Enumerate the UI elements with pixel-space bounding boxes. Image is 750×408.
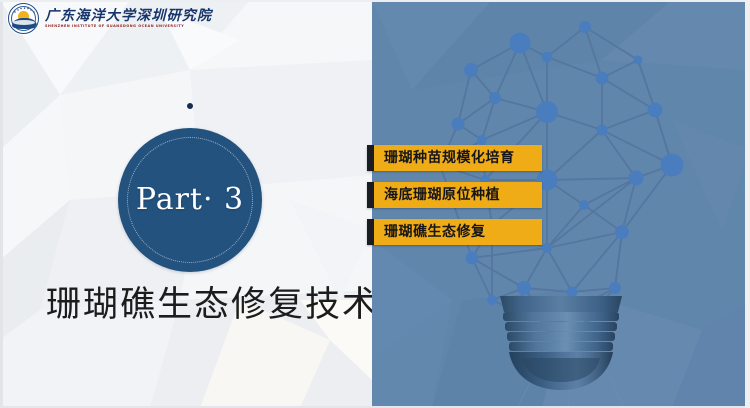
- bullet-label-group: 珊瑚种苗规模化培育 海底珊瑚原位种植 珊瑚礁生态修复: [367, 145, 542, 256]
- university-emblem-icon: [8, 3, 39, 34]
- bullet-tab-icon: [367, 145, 374, 171]
- bullet-label-2[interactable]: 海底珊瑚原位种植: [367, 182, 542, 208]
- circle-accent-dot: [187, 103, 193, 109]
- part-number-label: Part· 3: [136, 185, 244, 215]
- bullet-label-3[interactable]: 珊瑚礁生态修复: [367, 219, 542, 245]
- presentation-slide: 广东海洋大学深圳研究院 SHENZHEN INSTITUTE OF GUANGD…: [0, 0, 750, 408]
- part-number-circle: Part· 3: [118, 128, 262, 272]
- logo-chinese-name: 广东海洋大学深圳研究院: [45, 9, 212, 23]
- university-logo: 广东海洋大学深圳研究院 SHENZHEN INSTITUTE OF GUANGD…: [8, 3, 212, 34]
- section-title: 珊瑚礁生态修复技术: [46, 288, 372, 323]
- bullet-body-3: 珊瑚礁生态修复: [374, 219, 542, 245]
- frame-border-left: [0, 0, 3, 408]
- frame-border-right: [745, 0, 750, 408]
- bullet-label-1[interactable]: 珊瑚种苗规模化培育: [367, 145, 542, 171]
- left-content-panel: 广东海洋大学深圳研究院 SHENZHEN INSTITUTE OF GUANGD…: [0, 0, 372, 408]
- bullet-body-1: 珊瑚种苗规模化培育: [374, 145, 542, 171]
- bullet-tab-icon: [367, 182, 374, 208]
- bullet-text-1: 珊瑚种苗规模化培育: [384, 151, 515, 165]
- frame-border-top: [0, 0, 750, 2]
- bullet-text-3: 珊瑚礁生态修复: [384, 225, 486, 239]
- bullet-tab-icon: [367, 219, 374, 245]
- logo-english-name: SHENZHEN INSTITUTE OF GUANGDONG OCEAN UN…: [45, 25, 212, 28]
- bulb-base: [500, 296, 622, 390]
- bullet-body-2: 海底珊瑚原位种植: [374, 182, 542, 208]
- bullet-text-2: 海底珊瑚原位种植: [384, 188, 500, 202]
